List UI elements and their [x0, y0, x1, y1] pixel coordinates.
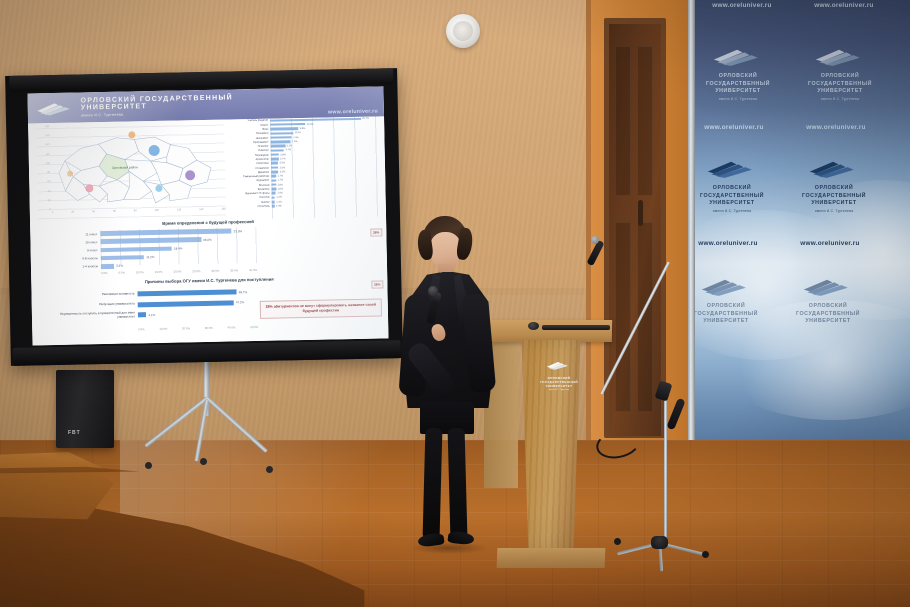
eagle-wing-logo: [813, 46, 867, 66]
banner-university-line1: ОРЛОВСКИЙ: [694, 185, 786, 193]
chart2-x-tick: 40.0%: [249, 268, 257, 272]
professions-bar-chart: Учитель (педагог)31.7%Юрист12.3%Врач9.8%…: [226, 117, 378, 220]
chart3-x-tick: 50.0%: [250, 325, 258, 329]
banner-url: www.oreluniver.ru: [776, 240, 884, 247]
chart-bar-value: 4.1%: [148, 313, 155, 317]
chart-bar: [271, 153, 279, 156]
chart-bar: [271, 183, 276, 186]
chart-bar: [271, 166, 278, 169]
screen-tripod-foot: [145, 462, 152, 469]
chart2-x-tick: 30.0%: [211, 269, 219, 273]
chart-bar-value: 2.8%: [280, 153, 286, 156]
loudspeaker: FBT: [56, 370, 114, 448]
map-y-tick: 0: [38, 208, 51, 211]
banner-university-line2: ГОСУДАРСТВЕННЫЙ: [694, 81, 792, 89]
map-y-tick: 100: [37, 162, 50, 165]
chart3-x-tick: 20.0%: [182, 326, 190, 330]
podium-base: [497, 548, 606, 568]
chart-bar: [271, 149, 284, 152]
banner-university-line3: УНИВЕРСИТЕТ: [694, 88, 792, 96]
chart-bar-value: 2.5%: [280, 166, 286, 169]
eagle-wing-logo: [807, 158, 861, 178]
chart-bar-label: Неуверенность поступить в приоритетный д…: [46, 311, 138, 320]
podium-sub: имени И.С. Тургенева: [538, 389, 580, 391]
mic-tripod-tip: [702, 551, 709, 558]
callout-box: 28% абитуриентов не могут сформулировать…: [260, 298, 382, 318]
banner-university-sub: имени И.С. Тургенева: [694, 209, 786, 213]
chart-bar: [137, 289, 236, 296]
chart-bar: [272, 192, 276, 195]
chart3-title: Причины выбора ОГУ имени И.С. Тургенева …: [31, 274, 387, 286]
chart2-x-tick: 5.0%: [118, 271, 124, 275]
eagle-wing-logo: [699, 276, 753, 296]
chart-bar-value: 12.3%: [307, 122, 314, 125]
chart-bar-value: 47.2%: [236, 300, 245, 304]
eagle-wing-logo: [546, 360, 572, 370]
map-x-tick: 80: [134, 209, 137, 217]
chart2-gridlines: [100, 227, 257, 266]
chart-bar-label: 5-8 классы: [67, 256, 101, 261]
chart-bar-value: 1.6%: [277, 187, 283, 190]
chart3-x-tick: 40.0%: [227, 325, 235, 329]
slide-body: 180 160 140 120 100 80 60 40 20 0: [28, 116, 388, 345]
chart-bar-value: 4.7%: [286, 149, 292, 152]
chart-bar-label: 1-4 классы: [67, 264, 101, 269]
chart-bar-value: 1.2%: [277, 196, 283, 199]
chart3-x-axis: 0.0%10.0%20.0%30.0%40.0%50.0%: [138, 325, 258, 331]
banner-url: www.oreluniver.ru: [694, 2, 796, 9]
map-bubble: [128, 131, 135, 138]
slide-url: www.oreluniver.ru: [328, 108, 378, 115]
door-handle-icon[interactable]: [638, 200, 643, 226]
map-x-tick: 120: [177, 208, 181, 216]
chart-bar-value: 9.8%: [300, 127, 306, 130]
map-x-tick: 40: [92, 210, 95, 218]
decision-time-bar-chart: 11 класс33.9%10 класс26.0%9 класс18.4%5-…: [66, 227, 257, 275]
banner-university-sub: имени И.С. Тургенева: [694, 97, 792, 101]
chart-bar: [270, 140, 290, 143]
podium-control-strip[interactable]: [542, 325, 610, 330]
eagle-wing-logo: [36, 99, 76, 118]
map-y-tick: 80: [37, 171, 50, 174]
choice-reasons-bar-chart: Рекламная активность48.7%Репутация униве…: [45, 287, 258, 327]
presenter-leg-left: [423, 428, 443, 538]
chart-bar: [270, 132, 293, 135]
podium-knob-icon[interactable]: [528, 322, 539, 330]
chart-bar: [272, 205, 275, 208]
eagle-wing-logo: [801, 276, 855, 296]
screen-tripod-foot: [266, 466, 273, 473]
chart-bar-value: 7.0%: [292, 140, 298, 143]
screen-tripod-foot: [200, 458, 207, 465]
banner-url: www.oreluniver.ru: [694, 124, 788, 131]
region-map-chart: 180 160 140 120 100 80 60 40 20 0: [36, 122, 226, 220]
map-x-tick: 140: [199, 208, 203, 216]
chart-bar-label: Строитель: [228, 205, 272, 209]
map-x-tick: 60: [113, 210, 116, 218]
map-y-tick: 160: [36, 134, 49, 137]
banner-university-sub: имени И.С. Тургенева: [786, 97, 894, 101]
mic-stand-pole: [664, 388, 667, 548]
map-x-tick: 160: [221, 208, 225, 216]
mic-tripod-tip: [614, 538, 621, 545]
chart-bar: [271, 171, 278, 174]
podium-line3: УНИВЕРСИТЕТ: [538, 384, 580, 388]
oryol-region-map: Орловский район: [54, 128, 222, 209]
chart-bar: [138, 312, 146, 317]
chart-bar-value: 2.7%: [280, 157, 286, 160]
map-y-tick: 40: [37, 190, 50, 193]
banner-university-line1: ОРЛОВСКИЙ: [694, 303, 780, 311]
banner-university-line2: ГОСУДАРСТВЕННЫЙ: [774, 311, 882, 319]
chart2-x-tick: 10.0%: [136, 270, 144, 274]
screen-surface: ОРЛОВСКИЙ ГОСУДАРСТВЕННЫЙ УНИВЕРСИТЕТ им…: [27, 86, 388, 345]
presenter-leg-right: [448, 428, 468, 538]
chart-bar: [271, 175, 276, 178]
chart-bar-label: Репутация университета: [46, 303, 138, 308]
slide-title-block: ОРЛОВСКИЙ ГОСУДАРСТВЕННЫЙ УНИВЕРСИТЕТ им…: [81, 94, 234, 118]
svg-text:Орловский район: Орловский район: [112, 165, 138, 170]
banner-university-line3: УНИВЕРСИТЕТ: [774, 318, 882, 326]
eagle-wing-logo: [705, 158, 759, 178]
map-x-tick: 20: [71, 211, 74, 219]
banner-url: www.oreluniver.ru: [782, 124, 890, 131]
projection-screen: ОРЛОВСКИЙ ГОСУДАРСТВЕННЫЙ УНИВЕРСИТЕТ им…: [5, 68, 403, 366]
chart2-x-tick: 20.0%: [173, 269, 181, 273]
pillar-edge: [586, 0, 591, 486]
chart-bar-value: 5.1%: [287, 144, 293, 147]
chart3-x-tick: 0.0%: [138, 327, 144, 331]
chart-bar-value: 48.7%: [239, 290, 248, 294]
chart2-x-tick: 25.0%: [192, 269, 200, 273]
wooden-door[interactable]: [609, 24, 661, 436]
map-x-tick: 100: [155, 209, 159, 217]
banner-university-line1: ОРЛОВСКИЙ: [786, 73, 894, 81]
map-x-tick: 0: [52, 211, 54, 219]
map-y-tick: 20: [38, 199, 51, 202]
chart-bar-value: 2.5%: [280, 170, 286, 173]
chart-bar: [271, 188, 276, 191]
presentation-slide: ОРЛОВСКИЙ ГОСУДАРСТВЕННЫЙ УНИВЕРСИТЕТ им…: [27, 86, 388, 345]
chart-bar: [138, 300, 234, 307]
map-y-tick: 120: [37, 153, 50, 156]
banner-university-line2: ГОСУДАРСТВЕННЫЙ: [786, 81, 894, 89]
chart2-x-tick: 35.0%: [230, 268, 238, 272]
chart-bar: [271, 145, 286, 148]
map-y-axis: 180 160 140 120 100 80 60 40 20 0: [36, 125, 52, 211]
chart-bar: [270, 136, 291, 139]
presentation-hall-scene: www.oreluniver.ru www.oreluniver.ru ОРЛО…: [0, 0, 910, 607]
map-y-tick: 140: [36, 144, 49, 147]
banner-university-line1: ОРЛОВСКИЙ: [694, 73, 792, 81]
banner-university-line3: УНИВЕРСИТЕТ: [786, 88, 894, 96]
ceiling-speaker-icon: [446, 14, 480, 48]
banner-university-line3: УНИВЕРСИТЕТ: [780, 200, 888, 208]
chart-bar-value: 1.6%: [277, 183, 283, 186]
presenter: [380, 216, 510, 556]
banner-university-line1: ОРЛОВСКИЙ: [780, 185, 888, 193]
banner-support-pole: [688, 0, 695, 448]
eagle-wing-logo: [711, 46, 765, 66]
chart2-x-tick: 15.0%: [155, 270, 163, 274]
chart-bar: [271, 158, 279, 161]
map-y-tick: 180: [36, 125, 49, 128]
chart-bar-label: 11 класс: [66, 232, 100, 237]
chart2-x-tick: 0.0%: [101, 271, 107, 275]
chart-bar-value: 1.7%: [278, 179, 284, 182]
chart-bar-value: 8.2%: [295, 131, 301, 134]
chart-bar-label: 10 класс: [66, 240, 100, 245]
banner-url: www.oreluniver.ru: [694, 240, 782, 247]
banner-university-sub: имени И.С. Тургенева: [780, 209, 888, 213]
stand-microphone-capsule: [591, 236, 599, 244]
chart-bar: [272, 196, 275, 199]
chart3-x-tick: 10.0%: [159, 327, 167, 331]
press-wall-banner: www.oreluniver.ru www.oreluniver.ru ОРЛО…: [694, 0, 910, 440]
chart-bar-label: 9 класс: [67, 248, 101, 253]
banner-url: www.oreluniver.ru: [790, 2, 898, 9]
banner-university-line3: УНИВЕРСИТЕТ: [694, 318, 780, 326]
chart-bar-value: 1.1%: [276, 200, 282, 203]
chart-bar-value: 1.0%: [276, 204, 282, 207]
slide-top-row: 180 160 140 120 100 80 60 40 20 0: [28, 116, 386, 221]
map-bubble: [67, 171, 73, 177]
chart-bar-value: 1.5%: [277, 192, 283, 195]
chart-bar-value: 7.4%: [293, 136, 299, 139]
banner-university-line2: ГОСУДАРСТВЕННЫЙ: [780, 193, 888, 201]
map-bubble: [155, 185, 162, 192]
chart3-x-tick: 30.0%: [205, 326, 213, 330]
banner-university-line2: ГОСУДАРСТВЕННЫЙ: [694, 193, 786, 201]
chart-bar: [271, 162, 278, 165]
chart-bar-value: 1.7%: [278, 174, 284, 177]
chart-bar: [271, 179, 276, 182]
podium-logo-block: ОРЛОВСКИЙ ГОСУДАРСТВЕННЫЙ УНИВЕРСИТЕТ им…: [538, 358, 580, 391]
banner-university-line3: УНИВЕРСИТЕТ: [694, 200, 786, 208]
chart-bar: [270, 127, 298, 130]
banner-university-line1: ОРЛОВСКИЙ: [774, 303, 882, 311]
chart-bar-value: 31.7%: [362, 117, 369, 120]
map-y-tick: 60: [37, 180, 50, 183]
banner-university-line2: ГОСУДАРСТВЕННЫЙ: [694, 311, 780, 319]
speaker-brand-label: FBT: [68, 430, 81, 436]
mic-tripod-base: [651, 536, 668, 549]
chart-bar-value: 2.5%: [280, 162, 286, 165]
chart-bar-label: Рекламная активность: [46, 292, 138, 297]
chart-bar: [272, 201, 275, 204]
